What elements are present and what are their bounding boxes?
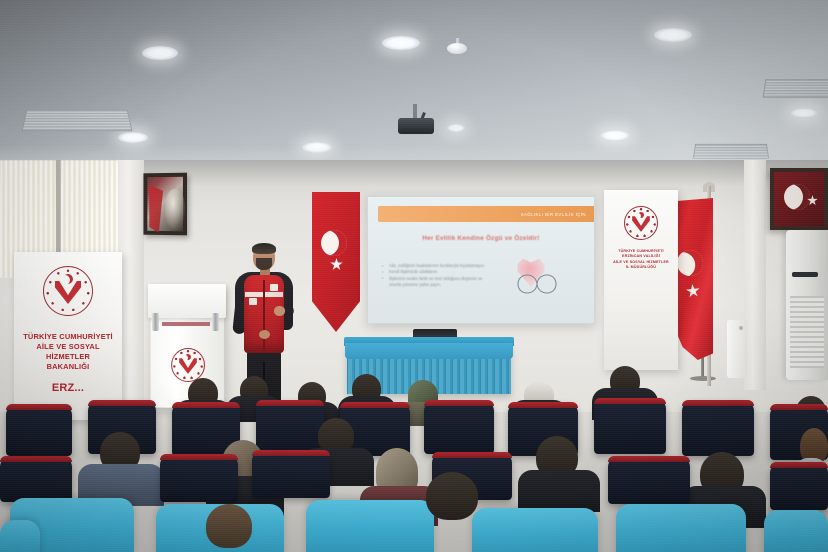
foreground-seat[interactable] <box>616 504 746 552</box>
slide-bullet: İlişkinizin neden farklı ve özel olduğun… <box>382 276 494 289</box>
banner-line-4: İL MÜDÜRLÜĞÜ <box>613 265 669 270</box>
presentation-slide: SAĞLIKLI BİR EVLİLİK İÇİN Her Evlilik Ke… <box>368 197 594 323</box>
banner-line-2: AİLE VE SOSYAL HİZMETLER <box>14 342 122 362</box>
attendee-shoulders <box>518 470 600 512</box>
seat[interactable] <box>594 398 666 454</box>
emblem-crescent <box>637 211 645 219</box>
downlight-8 <box>447 124 465 132</box>
ceiling <box>0 0 828 186</box>
presenter-vest-zipper <box>263 280 265 350</box>
turkish-flag-on-pole <box>673 198 713 360</box>
presenter-left-hand <box>259 330 270 339</box>
attendee-head <box>426 472 478 520</box>
lectern-chrome-left <box>152 313 159 331</box>
slide-header-bar: SAĞLIKLI BİR EVLİLİK İÇİN <box>378 206 594 222</box>
crescent-icon <box>321 230 347 256</box>
presenter-right-hand <box>274 306 285 316</box>
seat[interactable] <box>252 450 330 498</box>
seminar-photo-scene: TÜRKİYE CUMHURİYETİ AİLE VE SOSYAL HİZME… <box>0 0 828 552</box>
ac-grille <box>790 296 824 368</box>
turkiye-ministry-emblem <box>624 206 658 240</box>
emblem-crescent <box>62 273 74 285</box>
seat[interactable] <box>0 456 72 502</box>
emblem-crescent <box>184 353 192 361</box>
seat[interactable] <box>6 404 72 456</box>
ministry-rollup-banner-left: TÜRKİYE CUMHURİYETİ AİLE VE SOSYAL HİZME… <box>14 252 122 420</box>
downlight-7 <box>790 108 818 118</box>
downlight-4 <box>118 132 148 143</box>
ceiling-vent-left <box>21 110 132 131</box>
attendee-head <box>206 504 252 548</box>
star-icon <box>330 258 343 271</box>
lectern-slot <box>162 322 210 326</box>
turkiye-ministry-emblem <box>171 348 205 382</box>
seat[interactable] <box>608 456 690 504</box>
presentation-table-valance <box>345 343 513 359</box>
banner-line-1: TÜRKİYE CUMHURİYETİ <box>14 332 122 342</box>
seat[interactable] <box>424 400 494 454</box>
downlight-5 <box>302 142 332 153</box>
projection-screen: SAĞLIKLI BİR EVLİLİK İÇİN Her Evlilik Ke… <box>367 196 595 324</box>
slide-title: Her Evlilik Kendine Özgü ve Özeldir! <box>368 235 594 242</box>
smoke-detector-icon <box>447 43 467 54</box>
seat[interactable] <box>256 400 324 454</box>
ac-display-slot <box>792 272 818 277</box>
downlight-1 <box>142 46 178 60</box>
presenter-vest-logo <box>270 284 278 291</box>
crescent-icon <box>675 248 704 277</box>
ceiling-vent-right-upper <box>762 79 828 98</box>
downlight-6 <box>600 130 630 141</box>
banner-line-4: ERZ... <box>14 381 122 396</box>
infinity-icon <box>498 263 576 305</box>
seat[interactable] <box>770 462 828 510</box>
air-conditioner-unit[interactable] <box>786 230 828 380</box>
framed-turkish-flag-artwork <box>770 168 828 230</box>
microphone-stand-base <box>690 376 716 381</box>
presenter-beard <box>256 258 272 270</box>
downlight-2 <box>382 36 420 50</box>
foreground-seat[interactable] <box>0 520 40 552</box>
downlight-3 <box>654 28 692 42</box>
slide-graphic-heart-fingerprint-infinity <box>492 255 578 307</box>
ceiling-vent-right-lower <box>693 144 769 159</box>
floor-speaker <box>727 320 747 378</box>
presenter-hair <box>252 243 276 254</box>
seat[interactable] <box>160 454 238 502</box>
presenter-badge <box>249 298 257 305</box>
seat[interactable] <box>682 400 754 456</box>
turkiye-ministry-emblem <box>43 266 93 316</box>
ministry-rollup-banner-right: TÜRKİYE CUMHURİYETİ ERZİNCAN VALİLİĞİ Aİ… <box>604 190 678 370</box>
slide-bullet-list: Aile, evliliğinizi başkalarının kuraları… <box>382 263 494 288</box>
banner-line-3: BAKANLIĞI <box>14 362 122 372</box>
banner-text-right: TÜRKİYE CUMHURİYETİ ERZİNCAN VALİLİĞİ Aİ… <box>613 249 669 271</box>
framed-portrait <box>143 173 187 236</box>
foreground-seat[interactable] <box>472 508 598 552</box>
banner-text-left: TÜRKİYE CUMHURİYETİ AİLE VE SOSYAL HİZME… <box>14 332 122 396</box>
foreground-seat[interactable] <box>764 510 828 552</box>
foreground-seat[interactable] <box>306 500 434 552</box>
lectern-chrome-right <box>212 313 219 331</box>
projector <box>398 118 434 134</box>
slide-header-text: SAĞLIKLI BİR EVLİLİK İÇİN <box>521 212 586 217</box>
wall-pillar-right <box>744 160 766 390</box>
star-icon <box>685 283 700 298</box>
crescent-icon <box>784 184 810 210</box>
